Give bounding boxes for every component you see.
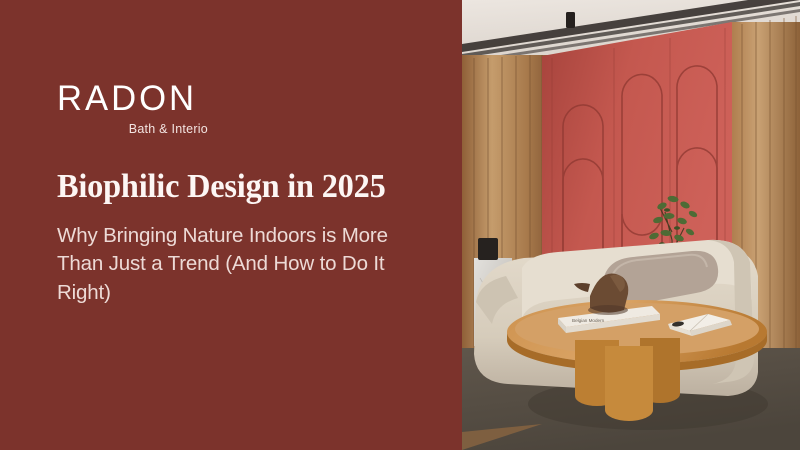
page-subtitle: Why Bringing Nature Indoors is More Than… xyxy=(57,222,429,308)
promo-banner: RADON Bath & Interio Biophilic Design in… xyxy=(0,0,800,450)
brand-wordmark: RADON xyxy=(57,82,207,115)
book-title: Belgian Modern xyxy=(572,318,605,323)
track-spotlight xyxy=(566,12,575,28)
interior-photo: Belgian Modern xyxy=(462,0,800,450)
page-title: Biophilic Design in 2025 xyxy=(57,169,448,205)
black-vessel xyxy=(478,238,498,260)
text-panel: RADON Bath & Interio Biophilic Design in… xyxy=(0,0,462,450)
interior-scene-illustration: Belgian Modern xyxy=(462,0,800,450)
brand-logo: RADON Bath & Interio xyxy=(57,82,209,136)
brand-tagline: Bath & Interio xyxy=(57,122,209,136)
